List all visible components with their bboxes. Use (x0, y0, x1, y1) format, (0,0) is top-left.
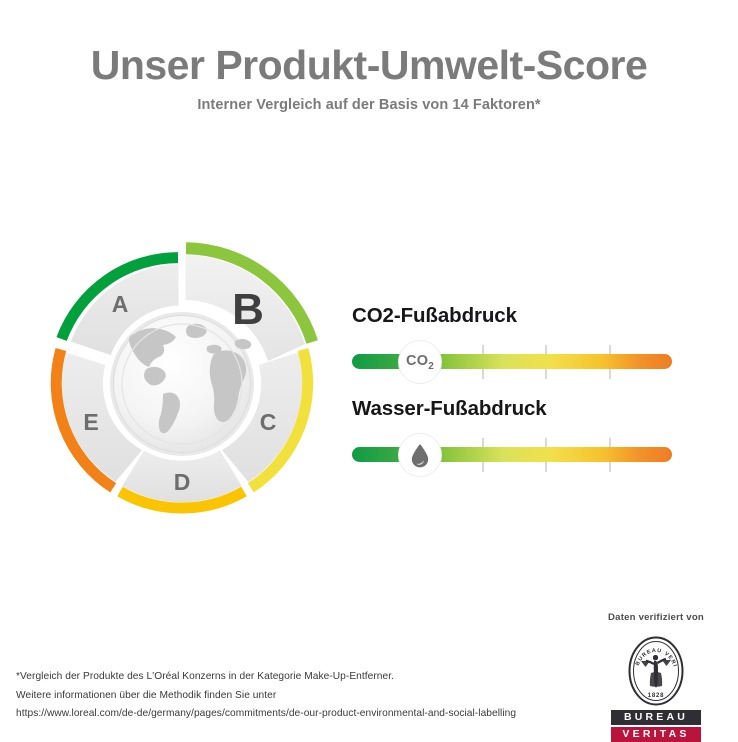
water-footprint-scale (352, 433, 672, 477)
wheel-segment-label-a: A (112, 291, 129, 317)
co2-icon: CO2 (406, 353, 434, 372)
globe-icon (110, 312, 254, 456)
data-verifier: Daten verifiziert von BUREAU VERITAS (586, 612, 726, 742)
water-drop-icon (410, 443, 430, 468)
water-footprint: Wasser-Fußabdruck (352, 397, 672, 477)
page-subtitle: Interner Vergleich auf der Basis von 14 … (0, 97, 738, 113)
emblem-year: 1828 (648, 693, 665, 699)
verifier-label: Daten verifiziert von (586, 612, 726, 623)
wheel-segment-label-e: E (83, 409, 98, 435)
co2-footprint-title: CO2-Fußabdruck (352, 304, 672, 328)
co2-footprint-scale: CO2 (352, 340, 672, 384)
footnote: *Vergleich der Produkte des L'Oréal Konz… (16, 668, 596, 724)
footnote-line-2: Weitere informationen über die Methodik … (16, 687, 596, 706)
bureau-veritas-word-top: BUREAU (611, 710, 701, 725)
infographic-page: Unser Produkt-Umwelt-Score Interner Verg… (0, 0, 738, 738)
footnote-line-1: *Vergleich der Produkte des L'Oréal Konz… (16, 668, 596, 687)
wheel-segment-label-c: C (260, 409, 277, 435)
bureau-veritas-emblem: BUREAU VERITAS 1828 (627, 635, 685, 707)
wheel-segment-label-b: B (232, 285, 264, 334)
wheel-segment-d: D (122, 451, 242, 503)
page-title: Unser Produkt-Umwelt-Score (0, 44, 738, 87)
wheel-segment-label-d: D (174, 469, 191, 495)
water-footprint-title: Wasser-Fußabdruck (352, 397, 672, 421)
bureau-veritas-word-bottom: VERITAS (611, 727, 701, 742)
co2-footprint: CO2-Fußabdruck (352, 304, 672, 384)
footnote-url[interactable]: https://www.loreal.com/de-de/germany/pag… (16, 705, 596, 724)
water-marker (398, 433, 442, 477)
co2-marker: CO2 (398, 340, 442, 384)
bureau-veritas-logo: BUREAU VERITAS 1828 BUREAU (586, 635, 726, 742)
environmental-score-wheel: A B C D E (22, 222, 342, 542)
